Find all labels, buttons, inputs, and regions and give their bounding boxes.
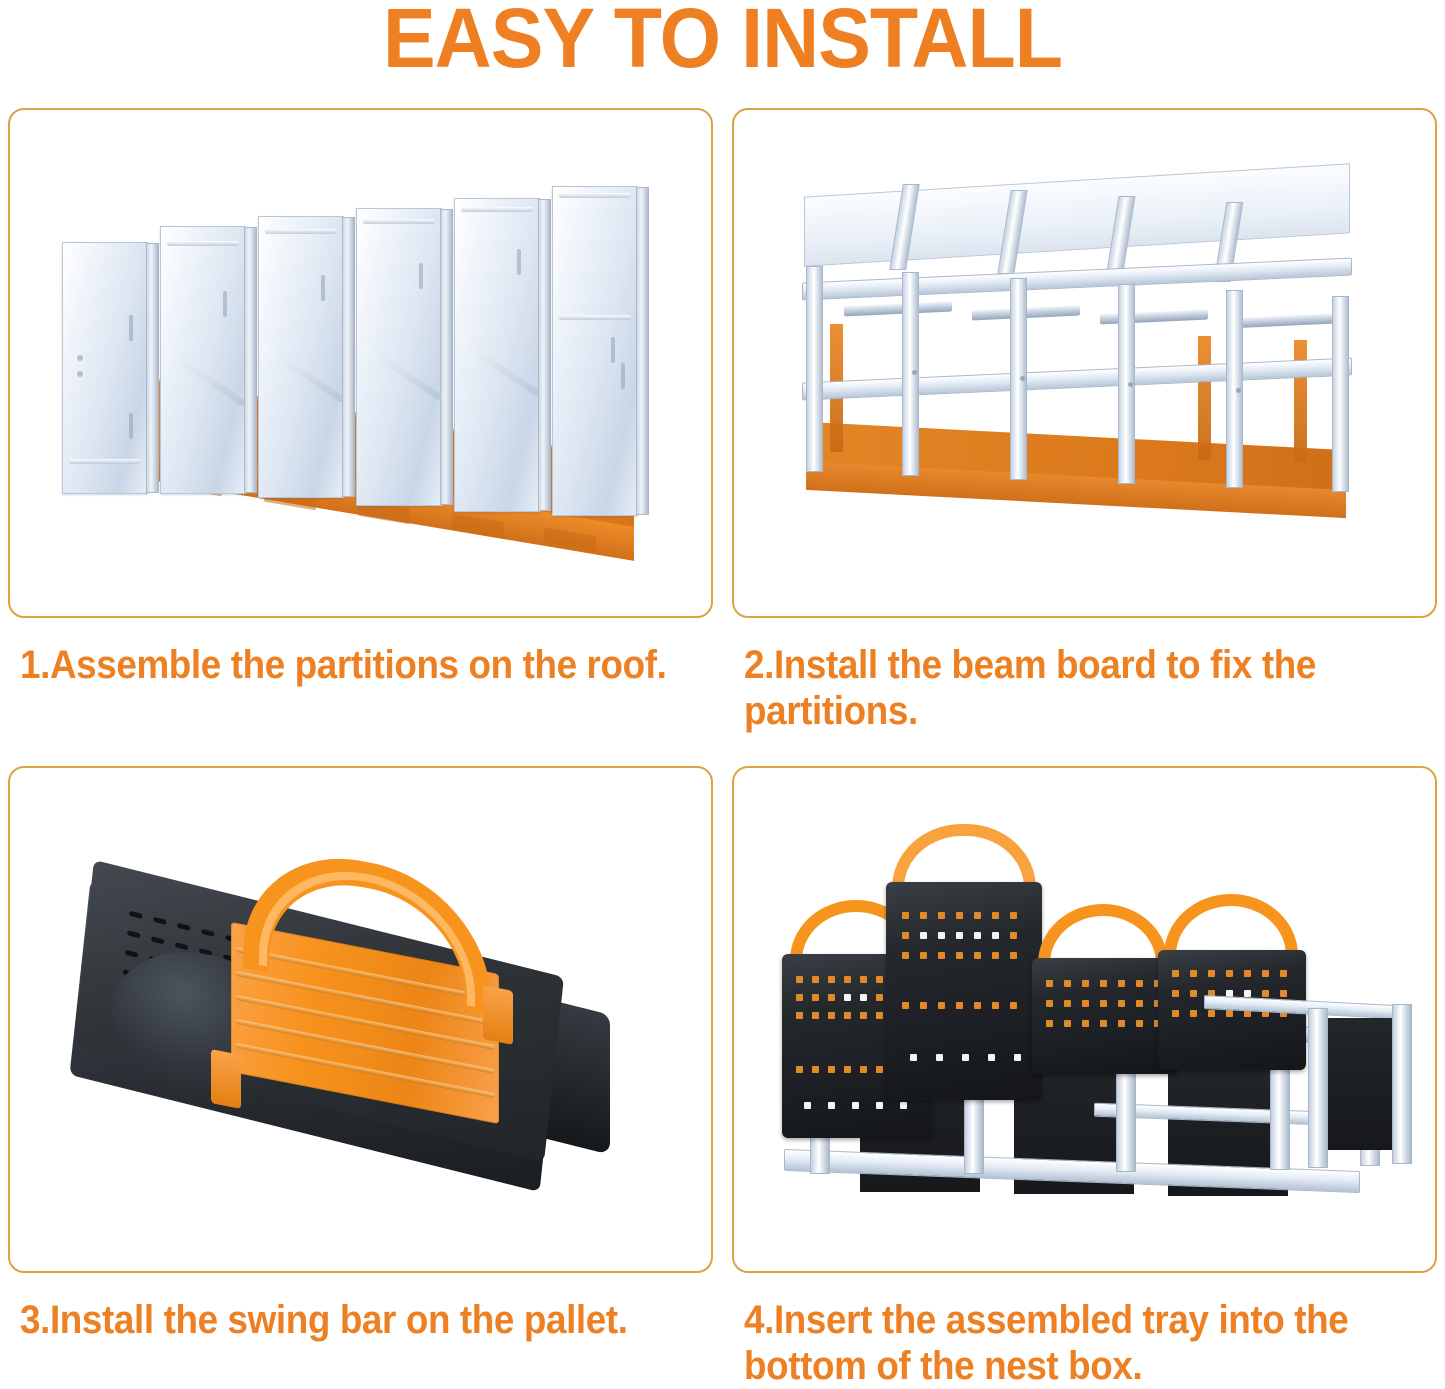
steel-cage-frame-with-beam-boards-image bbox=[734, 110, 1435, 616]
black-tray-with-orange-swing-bar-image bbox=[10, 768, 711, 1271]
cage-screw bbox=[1236, 388, 1241, 393]
partition-panel bbox=[160, 226, 246, 494]
partition-rib bbox=[363, 219, 435, 224]
cage-screw bbox=[912, 370, 917, 375]
partition-panel bbox=[552, 186, 638, 516]
swing-bar-right-tab bbox=[483, 985, 513, 1045]
swing-bar-left-tab bbox=[211, 1049, 241, 1109]
partition-slot bbox=[129, 413, 133, 439]
step-4-caption: 4.Insert the assembled tray into the bot… bbox=[744, 1297, 1443, 1389]
page-title: EASY TO INSTALL bbox=[43, 0, 1401, 76]
tray-inserted bbox=[886, 882, 1042, 1100]
partition-edge-flange bbox=[636, 187, 649, 515]
step-cell-4: 4.Insert the assembled tray into the bot… bbox=[732, 766, 1437, 1389]
swing-bar-assembly-illustration bbox=[40, 846, 690, 1226]
partition-slot bbox=[223, 291, 227, 317]
beam-board-upper-rail bbox=[802, 258, 1352, 301]
partition-diagonal-brace bbox=[359, 342, 443, 401]
partition-rib bbox=[69, 459, 141, 464]
cage-roof-panel bbox=[804, 163, 1350, 266]
nest-box-post bbox=[1308, 1008, 1328, 1168]
trays-inserted-into-nest-box-image bbox=[734, 768, 1435, 1271]
partition-rib bbox=[167, 241, 239, 246]
beam-board-assembly-illustration bbox=[786, 174, 1386, 554]
beam-board bbox=[1228, 314, 1336, 329]
cage-screw bbox=[1128, 382, 1133, 387]
partition-diagonal-brace bbox=[163, 348, 247, 407]
partition-edge-flange bbox=[146, 243, 159, 493]
partition-assembly-illustration bbox=[50, 180, 680, 560]
partition-slot bbox=[129, 315, 133, 341]
partition-panel bbox=[62, 242, 148, 494]
step-3-caption: 3.Install the swing bar on the pallet. bbox=[20, 1297, 719, 1343]
partition-rib bbox=[461, 207, 533, 212]
partition-slot bbox=[611, 337, 615, 363]
step-3-photo-frame bbox=[8, 766, 713, 1273]
step-1-caption: 1.Assemble the partitions on the roof. bbox=[20, 642, 719, 688]
partition-rib bbox=[265, 229, 337, 234]
step-4-photo-frame bbox=[732, 766, 1437, 1273]
step-cell-1: 1.Assemble the partitions on the roof. bbox=[8, 108, 713, 734]
partition-hole bbox=[77, 355, 83, 361]
partition-slot bbox=[517, 249, 521, 275]
partition-diagonal-brace bbox=[261, 344, 345, 403]
step-2-caption: 2.Install the beam board to fix the part… bbox=[744, 642, 1443, 734]
step-cell-2: 2.Install the beam board to fix the part… bbox=[732, 108, 1437, 734]
tray-inserted bbox=[1032, 958, 1178, 1074]
partition-edge-flange bbox=[342, 217, 355, 497]
step-2-photo-frame bbox=[732, 108, 1437, 618]
partition-slot bbox=[621, 363, 625, 389]
step-cell-3: 3.Install the swing bar on the pallet. bbox=[8, 766, 713, 1389]
partition-diagonal-brace bbox=[457, 338, 541, 397]
cage-corner-post bbox=[1332, 296, 1349, 492]
cage-orange-inner-strip bbox=[1198, 336, 1211, 460]
partition-rib bbox=[559, 193, 631, 198]
partition-rib bbox=[559, 315, 631, 320]
cage-corner-post bbox=[806, 266, 823, 472]
partitions-on-orange-base-rail-image bbox=[10, 110, 711, 616]
partition-edge-flange bbox=[440, 209, 453, 505]
partition-panel bbox=[258, 216, 344, 498]
beam-board-lower-rail bbox=[802, 358, 1352, 401]
steps-grid: 1.Assemble the partitions on the roof. bbox=[8, 108, 1437, 1389]
nest-box-post bbox=[1392, 1004, 1412, 1164]
partition-panel bbox=[454, 198, 540, 512]
beam-board bbox=[1100, 310, 1208, 325]
swing-bar bbox=[225, 856, 515, 1106]
partition-slot bbox=[419, 263, 423, 289]
step-1-photo-frame bbox=[8, 108, 713, 618]
cage-screw bbox=[1020, 376, 1025, 381]
beam-board bbox=[844, 302, 952, 317]
partition-slot bbox=[321, 275, 325, 301]
partition-edge-flange bbox=[244, 227, 257, 493]
partition-edge-flange bbox=[538, 199, 551, 511]
partition-hole bbox=[77, 371, 83, 377]
cage-orange-inner-strip bbox=[1294, 340, 1307, 462]
partition-panel bbox=[356, 208, 442, 506]
tray-insertion-illustration bbox=[764, 808, 1404, 1228]
